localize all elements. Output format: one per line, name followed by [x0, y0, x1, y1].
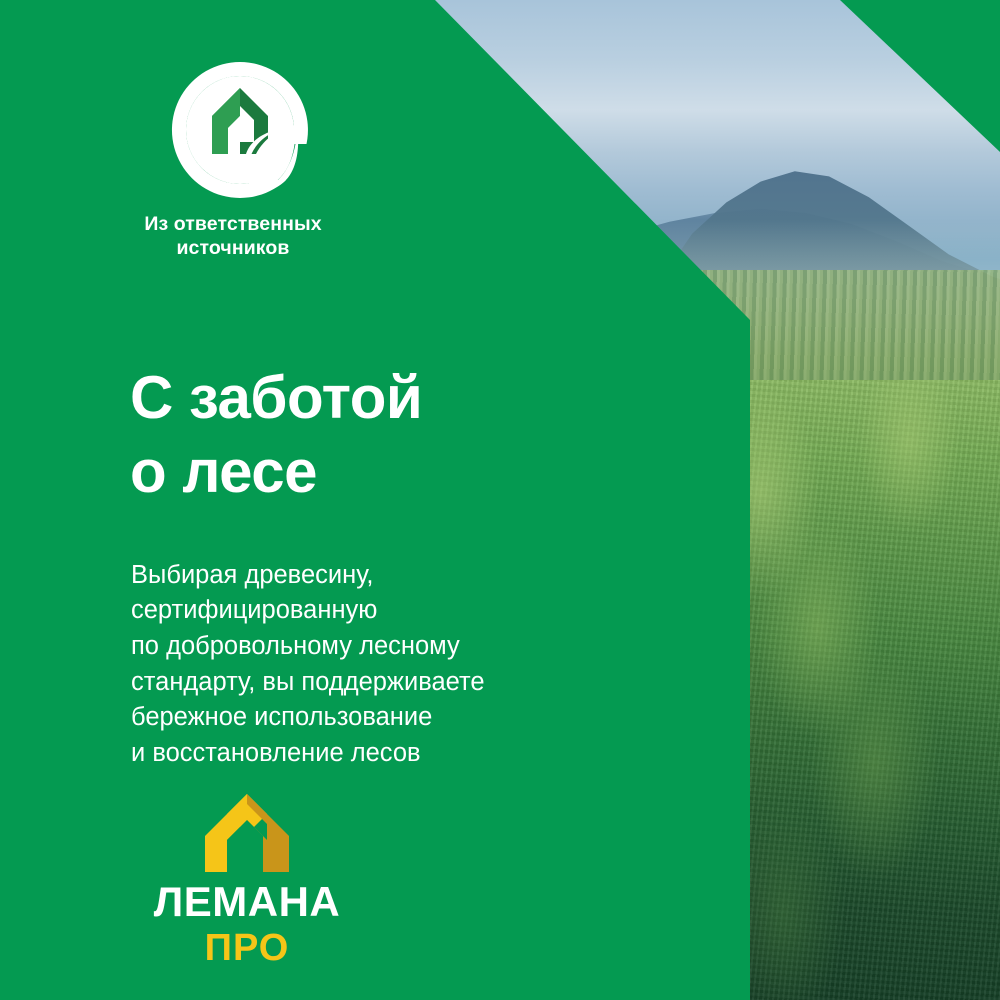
headline-line-2: о лесе [130, 442, 650, 502]
poster-content: Из ответственных источников С заботой о … [0, 0, 1000, 1000]
pro-wordmark: ПРО [132, 927, 362, 967]
body-copy: Выбирая древесину, сертифицированную по … [131, 558, 661, 772]
responsible-sources-house-leaf-mark [168, 58, 312, 203]
lemana-wordmark-text: ЛЕМАНА [154, 880, 340, 924]
body-line-2: сертифицированную [131, 593, 661, 629]
headline: С заботой о лесе [130, 368, 650, 502]
lemana-house-icon [201, 792, 293, 874]
pro-wordmark-text: ПРО [205, 927, 290, 967]
eco-caption-line-1: Из ответственных [144, 213, 321, 235]
headline-line-1: С заботой [130, 364, 422, 431]
body-line-4: стандарту, вы поддерживаете [131, 665, 661, 701]
body-line-6: и восстановление лесов [131, 736, 661, 772]
body-line-1: Выбирая древесину, [131, 558, 661, 594]
responsible-sources-logo: Из ответственных источников [128, 58, 338, 261]
poster-canvas: Из ответственных источников С заботой о … [0, 0, 1000, 1000]
eco-caption-line-2: источников [176, 237, 289, 259]
body-line-3: по добровольному лесному [131, 629, 661, 665]
lemana-pro-logo: ЛЕМАНА ПРО [132, 792, 362, 967]
lemana-wordmark: ЛЕМАНА [132, 880, 362, 924]
responsible-sources-caption: Из ответственных источников [128, 213, 338, 261]
body-line-5: бережное использование [131, 700, 661, 736]
